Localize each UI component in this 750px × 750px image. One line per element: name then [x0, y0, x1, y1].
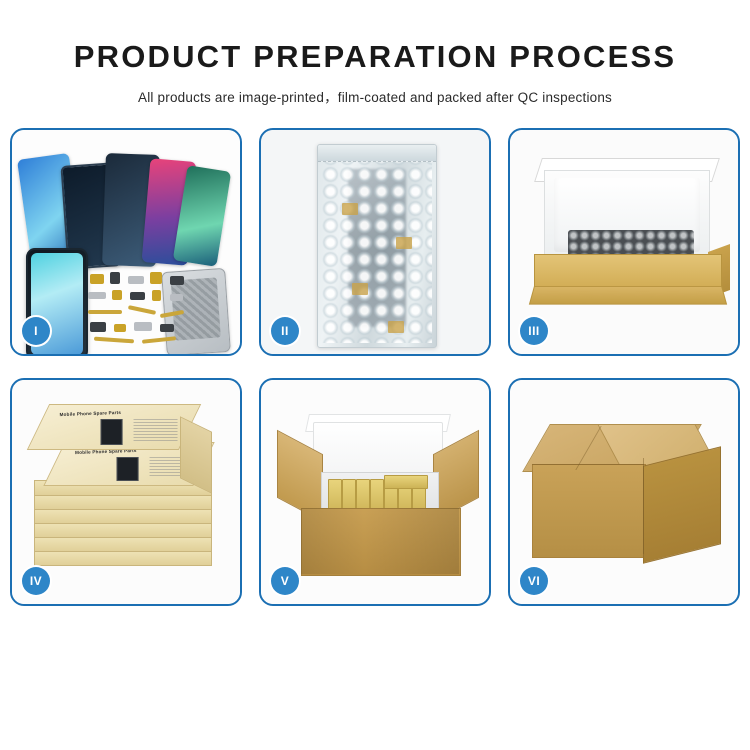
page-title: PRODUCT PREPARATION PROCESS	[0, 40, 750, 74]
spare-parts-group	[84, 270, 196, 350]
page-header: PRODUCT PREPARATION PROCESS All products…	[0, 0, 750, 106]
step-card-5: V	[259, 378, 491, 606]
step-card-3: III	[508, 128, 740, 356]
step-badge-2: II	[271, 317, 299, 345]
step-badge-5: V	[271, 567, 299, 595]
step-badge-6: VI	[520, 567, 548, 595]
step-card-1: I	[10, 128, 242, 356]
step-card-2: II	[259, 128, 491, 356]
step-card-6: VI	[508, 378, 740, 606]
page-subtitle: All products are image-printed，film-coat…	[0, 86, 750, 106]
step-badge-4: IV	[22, 567, 50, 595]
mailer-front-flap	[529, 286, 727, 305]
carton-front-shading	[301, 508, 459, 574]
carton-side-face	[643, 446, 721, 563]
box-print-label-1: Mobile Phone Spare Parts	[60, 410, 122, 417]
steps-grid: I II	[0, 128, 750, 606]
product-preparation-page: PRODUCT PREPARATION PROCESS All products…	[0, 0, 750, 750]
printed-box-top: Mobile Phone Spare Parts	[27, 404, 201, 450]
step-badge-3: III	[520, 317, 548, 345]
step-card-4: Mobile Phone Spare Parts Mobile Phone Sp…	[10, 378, 242, 606]
carton-front-face	[532, 464, 646, 558]
bubble-bag	[317, 144, 437, 348]
step-badge-1: I	[22, 317, 50, 345]
